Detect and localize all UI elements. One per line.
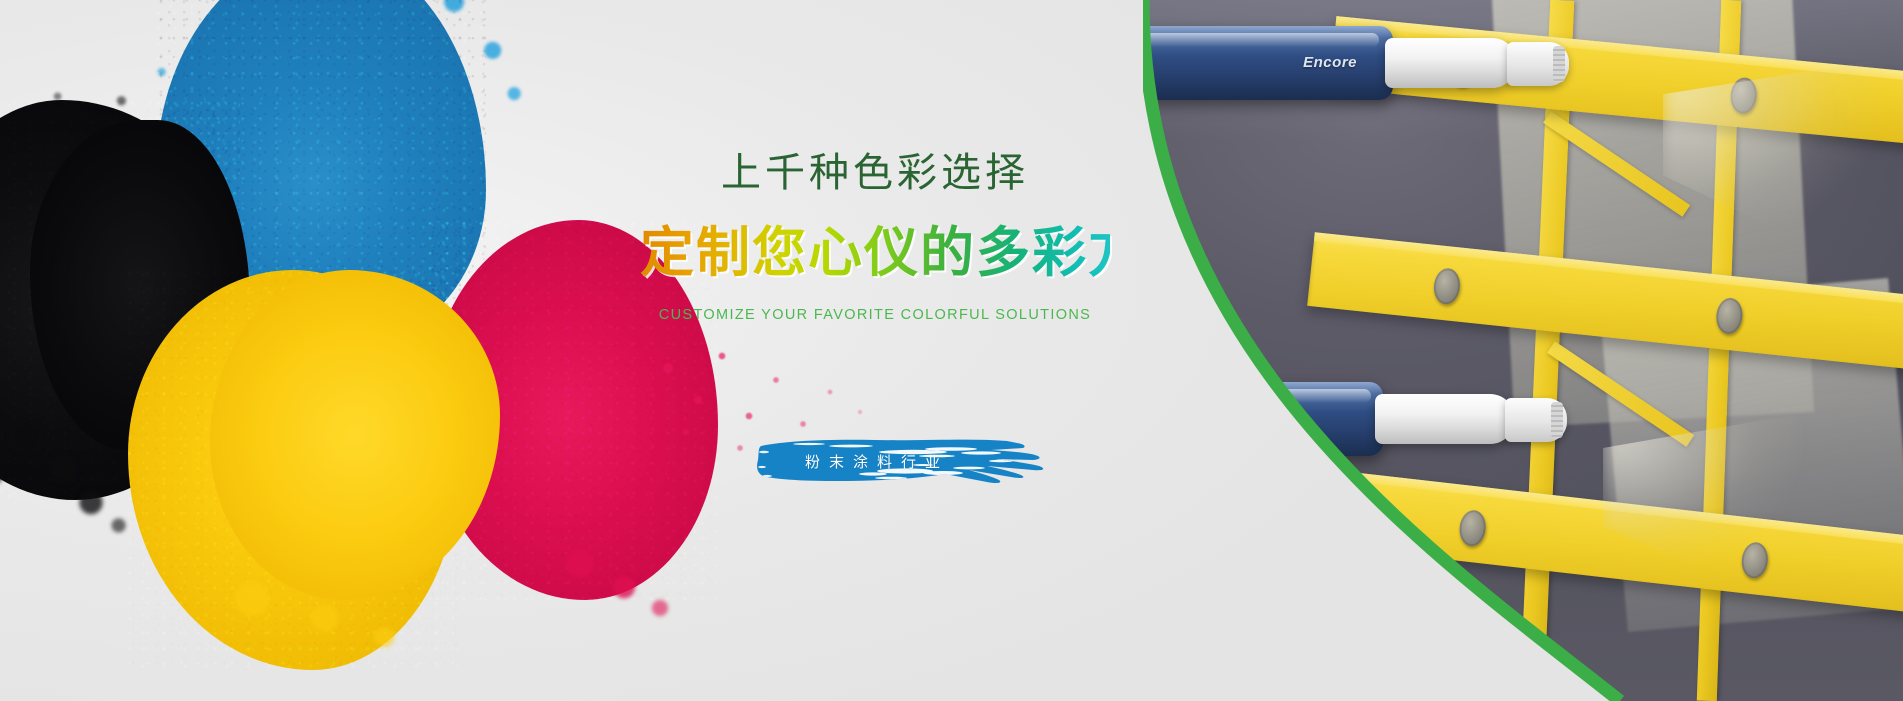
powder-coating-hero-banner: Encore 上千种色彩选择 定制您心仪的多彩方案 CUSTOMIZE YOUR… — [0, 0, 1903, 701]
spray-gun-neck — [1385, 38, 1517, 88]
spray-gun-nozzle — [1505, 398, 1567, 442]
bar-mounting-hole — [1432, 267, 1462, 306]
industry-badge: 粉末涂料行业 — [755, 432, 1065, 492]
spray-gun-brand-label: Encore — [1303, 54, 1357, 71]
subtitle-english: CUSTOMIZE YOUR FAVORITE COLORFUL SOLUTIO… — [640, 307, 1110, 323]
headline-primary: 上千种色彩选择 — [640, 150, 1110, 196]
bar-mounting-hole — [1458, 509, 1488, 548]
bar-mounting-hole — [1715, 297, 1745, 336]
headline-secondary: 定制您心仪的多彩方案 — [640, 208, 1110, 287]
industry-badge-label: 粉末涂料行业 — [805, 451, 949, 472]
spray-gun-neck — [1375, 394, 1515, 444]
powder-pile-magenta-tail — [520, 530, 720, 660]
powder-pile-yellow-tail — [140, 570, 470, 690]
spray-gun-body: Encore — [1143, 26, 1393, 100]
cmyk-powder-piles-image — [0, 0, 680, 630]
hero-copy-block: 上千种色彩选择 定制您心仪的多彩方案 CUSTOMIZE YOUR FAVORI… — [640, 150, 1110, 323]
spray-gun-nozzle — [1507, 42, 1569, 86]
